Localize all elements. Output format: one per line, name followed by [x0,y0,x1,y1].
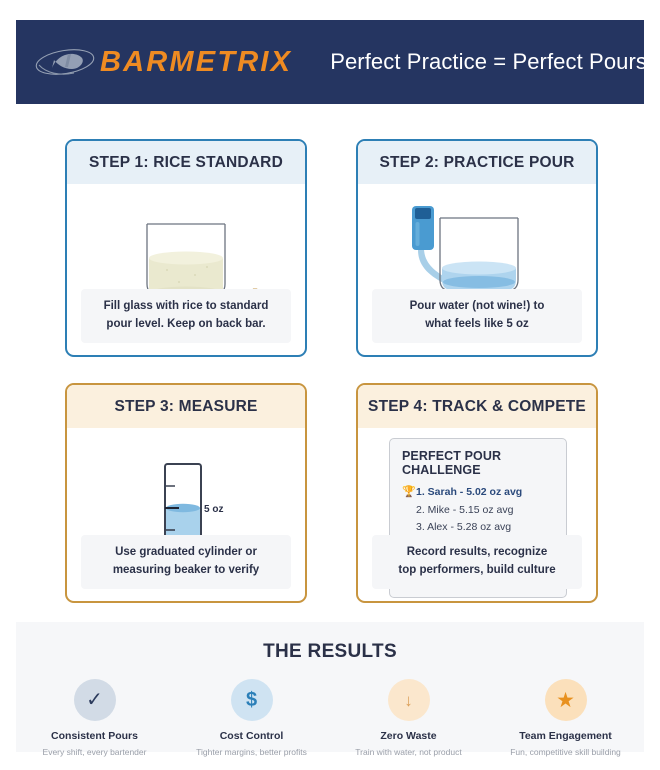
result-item-cost-control: $ Cost Control Tighter margins, better p… [173,679,330,757]
arrow-down-icon: ↓ [388,679,430,721]
step-4-caption-line-2: top performers, build culture [378,562,576,580]
step-3-title: STEP 3: MEASURE [67,385,305,428]
step-1-title: STEP 1: RICE STANDARD [67,141,305,184]
leaderboard-title: PERFECT POUR CHALLENGE [402,449,554,477]
step-3-caption: Use graduated cylinder or measuring beak… [81,535,291,589]
result-sub-4: Fun, competitive skill building [487,747,644,757]
result-label-2: Cost Control [173,730,330,742]
step-4-body: PERFECT POUR CHALLENGE 🏆 1. Sarah - 5.02… [358,428,596,601]
result-sub-1: Every shift, every bartender [16,747,173,757]
result-item-consistent-pours: ✓ Consistent Pours Every shift, every ba… [16,679,173,757]
result-item-zero-waste: ↓ Zero Waste Train with water, not produ… [330,679,487,757]
step-card-1: STEP 1: RICE STANDARD [65,139,307,357]
result-label-4: Team Engagement [487,730,644,742]
leaderboard-entry-1: 1. Sarah - 5.02 oz avg [416,484,522,501]
result-item-team-engagement: ★ Team Engagement Fun, competitive skill… [487,679,644,757]
check-icon: ✓ [74,679,116,721]
infographic-page: BARMETRIX Perfect Practice = Perfect Pou… [0,0,660,770]
leaderboard-row: 🏆 1. Sarah - 5.02 oz avg [402,484,554,502]
step-4-caption-line-1: Record results, recognize [378,544,576,562]
step-3-caption-line-2: measuring beaker to verify [87,562,285,580]
step-3-measure-label: 5 oz [204,504,223,515]
dollar-icon: $ [231,679,273,721]
step-card-2: STEP 2: PRACTICE POUR [356,139,598,357]
step-2-caption: Pour water (not wine!) to what feels lik… [372,289,582,343]
brand-logo: BARMETRIX [34,45,292,79]
trophy-icon: 🏆 [402,484,416,502]
step-2-caption-line-2: what feels like 5 oz [378,316,576,334]
step-card-4: STEP 4: TRACK & COMPETE PERFECT POUR CHA… [356,383,598,603]
step-2-caption-line-1: Pour water (not wine!) to [378,298,576,316]
result-label-1: Consistent Pours [16,730,173,742]
barmetrix-swoosh-icon [34,45,96,79]
step-2-body: Pour water (not wine!) to what feels lik… [358,184,596,355]
leaderboard-row: 3. Alex - 5.28 oz avg [402,519,554,536]
step-3-caption-line-1: Use graduated cylinder or [87,544,285,562]
star-icon: ★ [545,679,587,721]
step-1-caption-line-2: pour level. Keep on back bar. [87,316,285,334]
leaderboard-row: 2. Mike - 5.15 oz avg [402,502,554,519]
leaderboard-entry-2: 2. Mike - 5.15 oz avg [416,502,513,519]
step-1-caption: Fill glass with rice to standard pour le… [81,289,291,343]
step-3-body: 5 oz Use graduated cylinder or measuring… [67,428,305,601]
results-grid: ✓ Consistent Pours Every shift, every ba… [16,679,644,757]
result-label-3: Zero Waste [330,730,487,742]
step-card-3: STEP 3: MEASURE 5 oz [65,383,307,603]
results-section: THE RESULTS ✓ Consistent Pours Every shi… [16,622,644,752]
result-sub-3: Train with water, not product [330,747,487,757]
step-1-body: 5 oz Fill glass with rice to standard po… [67,184,305,355]
step-4-caption: Record results, recognize top performers… [372,535,582,589]
leaderboard-entry-3: 3. Alex - 5.28 oz avg [416,519,511,536]
step-2-title: STEP 2: PRACTICE POUR [358,141,596,184]
result-sub-2: Tighter margins, better profits [173,747,330,757]
header-tagline: Perfect Practice = Perfect Pours [330,49,647,75]
results-title: THE RESULTS [16,622,644,663]
step-4-title: STEP 4: TRACK & COMPETE [358,385,596,428]
step-1-caption-line-1: Fill glass with rice to standard [87,298,285,316]
page-header: BARMETRIX Perfect Practice = Perfect Pou… [16,20,644,104]
brand-name: BARMETRIX [100,48,292,77]
